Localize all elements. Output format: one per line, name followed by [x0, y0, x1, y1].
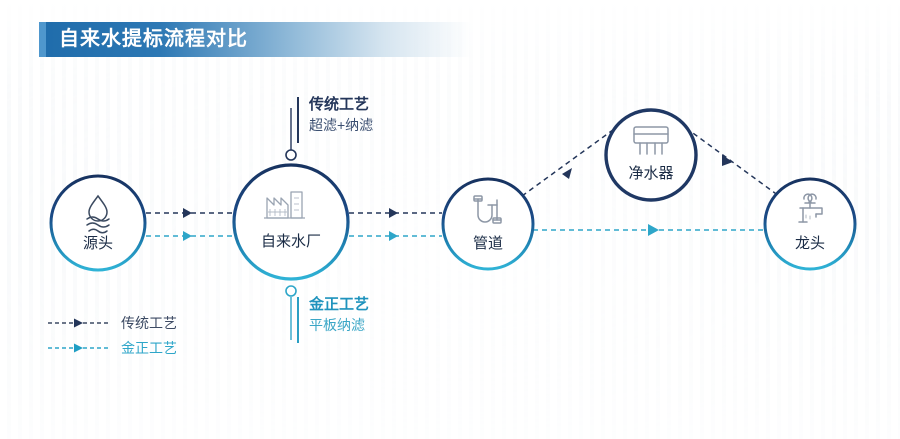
flow-jinzheng-plant-pipe-arrow: [389, 231, 398, 241]
legend-label-jinzheng: 金正工艺: [121, 338, 177, 358]
node-pipe-label: 管道: [473, 235, 503, 252]
infographic-canvas: 自来水提标流程对比: [0, 0, 900, 439]
flow-traditional-source-plant-arrow: [183, 208, 192, 218]
flow-traditional-plant-pipe-arrow: [389, 208, 398, 218]
callout-traditional-rule: [297, 97, 299, 143]
node-source-ring: [51, 176, 145, 270]
node-source-label: 源头: [83, 235, 113, 252]
callout-traditional-subtitle: 超滤+纳滤: [309, 115, 373, 135]
node-plant[interactable]: 自来水厂: [234, 165, 348, 279]
legend-swatch-jinzheng: [48, 342, 110, 354]
flow-jinzheng-source-plant-arrow: [183, 231, 192, 241]
process-flow-diagram: 源头 自来水厂: [0, 0, 900, 439]
callout-top-stem-dot: [286, 150, 296, 160]
node-plant-ring: [234, 165, 348, 279]
node-pipe-ring: [443, 179, 533, 269]
flow-traditional-pipe-purifier: [522, 127, 617, 196]
legend-item-traditional: 传统工艺: [48, 313, 177, 333]
node-plant-label: 自来水厂: [261, 233, 321, 250]
node-faucet-label: 龙头: [795, 235, 825, 252]
callout-traditional-title: 传统工艺: [309, 95, 373, 115]
callout-jinzheng-subtitle: 平板纳滤: [309, 315, 369, 335]
node-source[interactable]: 源头: [51, 176, 145, 270]
legend-swatch-traditional: [48, 317, 110, 329]
callout-bottom-stem-dot: [286, 286, 296, 296]
callout-jinzheng-rule: [297, 297, 299, 343]
node-faucet[interactable]: 龙头: [765, 179, 855, 269]
node-faucet-ring: [765, 179, 855, 269]
flow-traditional-pipe-purifier-arrow: [562, 168, 572, 179]
flow-jinzheng-pipe-faucet-arrow: [648, 224, 659, 236]
callout-jinzheng-title: 金正工艺: [309, 295, 369, 315]
node-purifier-label: 净水器: [628, 165, 673, 182]
callout-traditional-text: 传统工艺 超滤+纳滤: [309, 95, 373, 135]
legend-item-jinzheng: 金正工艺: [48, 338, 177, 358]
callout-jinzheng-text: 金正工艺 平板纳滤: [309, 295, 369, 335]
legend-label-traditional: 传统工艺: [121, 313, 177, 333]
node-purifier-ring: [606, 110, 696, 200]
node-pipe[interactable]: 管道: [443, 179, 533, 269]
node-purifier[interactable]: 净水器: [606, 110, 696, 200]
legend: 传统工艺 金正工艺: [48, 313, 177, 363]
